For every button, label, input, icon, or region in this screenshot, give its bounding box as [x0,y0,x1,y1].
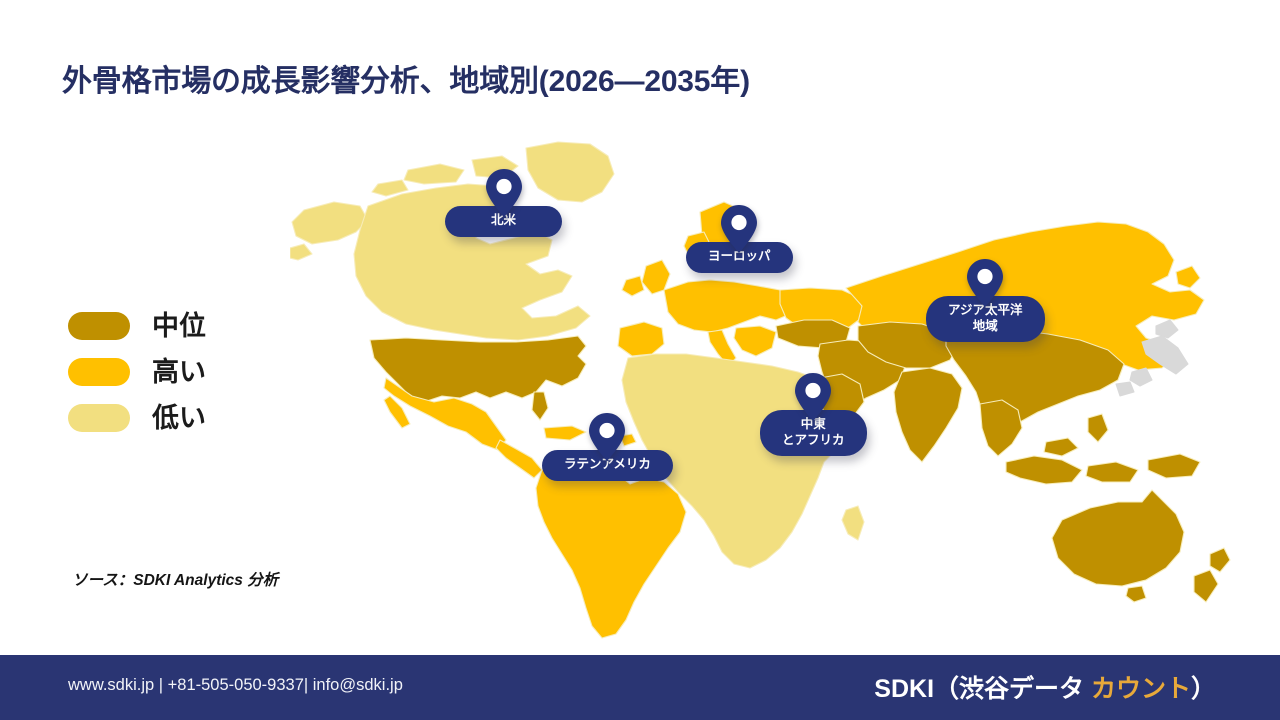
marker-north-america[interactable]: 北米 [445,168,562,237]
brand-accent-text: カウント [1091,675,1191,703]
marker-latin-america[interactable]: ラテンアメリカ [542,412,673,481]
legend-label-low: 低い [152,405,206,432]
map-pin-icon [720,204,758,254]
brand-main-text: SDKI（渋谷データ [874,675,1091,703]
legend-swatch-mid [68,312,130,340]
footer-brand-logo: SDKI（渋谷データ カウント） [874,669,1216,705]
brand-tail-text: ） [1191,675,1216,703]
map-pin-icon [588,412,626,462]
legend-swatch-high [68,358,130,386]
marker-asia-pacific[interactable]: アジア太平洋 地域 [926,258,1045,342]
map-pin-icon [794,372,832,422]
legend-swatch-low [68,404,130,432]
marker-europe[interactable]: ヨーロッパ [686,204,793,273]
map-region-mid-oceania [1052,490,1230,602]
legend-item-high: 高い [68,358,206,386]
map-pin-icon [966,258,1004,308]
world-map-container: 北米 ヨーロッパ アジア太平洋 地域 中東 とアフリカ ラテンアメリカ [290,140,1250,640]
map-pin-icon [485,168,523,218]
source-note: ソース：SDKI Analytics 分析 [72,568,278,590]
legend-label-mid: 中位 [152,313,206,340]
page-title: 外骨格市場の成長影響分析、地域別(2026—2035年) [62,56,750,100]
legend: 中位 高い 低い [68,312,206,432]
legend-item-mid: 中位 [68,312,206,340]
legend-label-high: 高い [152,359,206,386]
footer-contact-info[interactable]: www.sdki.jp | +81-505-050-9337| info@sdk… [68,676,403,695]
marker-middle-east-africa[interactable]: 中東 とアフリカ [760,372,867,456]
legend-item-low: 低い [68,404,206,432]
